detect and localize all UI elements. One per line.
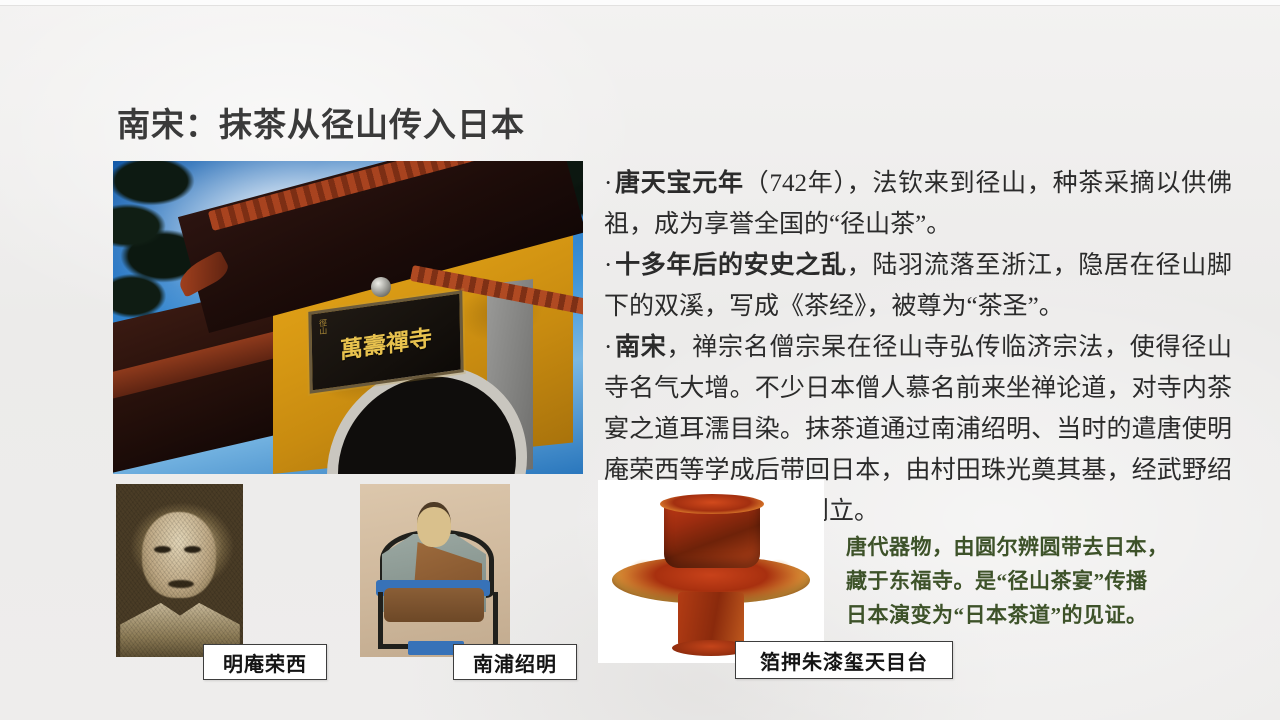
caption-nanpo-shomyo: 南浦绍明 xyxy=(453,644,577,680)
thumbnail-tenmoku-stand xyxy=(598,480,824,663)
caption-tenmoku-stand: 箔押朱漆玺天目台 xyxy=(735,641,953,679)
body-text-block: ·唐天宝元年（742年），法钦来到径山，种茶采摘以供佛祖，成为享誉全国的“径山茶… xyxy=(604,163,1232,532)
nanpo-head xyxy=(417,502,451,547)
bullet-marker-3: · xyxy=(604,334,612,361)
slide-canvas: 南宋：抹茶从径山传入日本 徑山 萬壽禪寺 ·唐天宝元年（742年），法钦来到径山… xyxy=(0,0,1280,720)
green-annotation-line-1: 唐代器物，由圆尔辨圆带去日本， xyxy=(846,530,1238,564)
bullet-lead-2: 十多年后的安史之乱 xyxy=(614,252,846,279)
bullet-item-2: ·十多年后的安史之乱，陆羽流落至浙江，隐居在径山脚下的双溪，写成《茶经》，被尊为… xyxy=(604,252,1232,320)
bullet-marker-1: · xyxy=(604,170,612,197)
top-edge-strip xyxy=(0,0,1280,6)
bullet-marker-2: · xyxy=(604,252,612,279)
photo-grain-overlay xyxy=(116,484,243,657)
page-title: 南宋：抹茶从径山传入日本 xyxy=(117,98,525,146)
green-annotation-block: 唐代器物，由圆尔辨圆带去日本， 藏于东福寺。是“径山茶宴”传播 日本演变为“日本… xyxy=(846,530,1238,632)
tenmoku-cup-rim xyxy=(660,494,764,514)
thumbnail-nanpo-shomyo xyxy=(360,484,510,657)
bullet-item-1: ·唐天宝元年（742年），法钦来到径山，种茶采摘以供佛祖，成为享誉全国的“径山茶… xyxy=(604,170,1232,238)
thumbnail-myoan-eisai xyxy=(116,484,243,657)
bullet-lead-3: 南宋 xyxy=(614,334,666,361)
bullet-lead-1: 唐天宝元年 xyxy=(614,170,743,197)
hero-image-temple-gate: 徑山 萬壽禪寺 xyxy=(113,161,583,474)
caption-myoan-eisai: 明庵荣西 xyxy=(203,644,327,680)
green-annotation-line-3: 日本演变为“日本茶道”的见证。 xyxy=(846,598,1238,632)
green-annotation-line-2: 藏于东福寺。是“径山茶宴”传播 xyxy=(846,564,1238,598)
gate-lamp xyxy=(371,277,391,297)
